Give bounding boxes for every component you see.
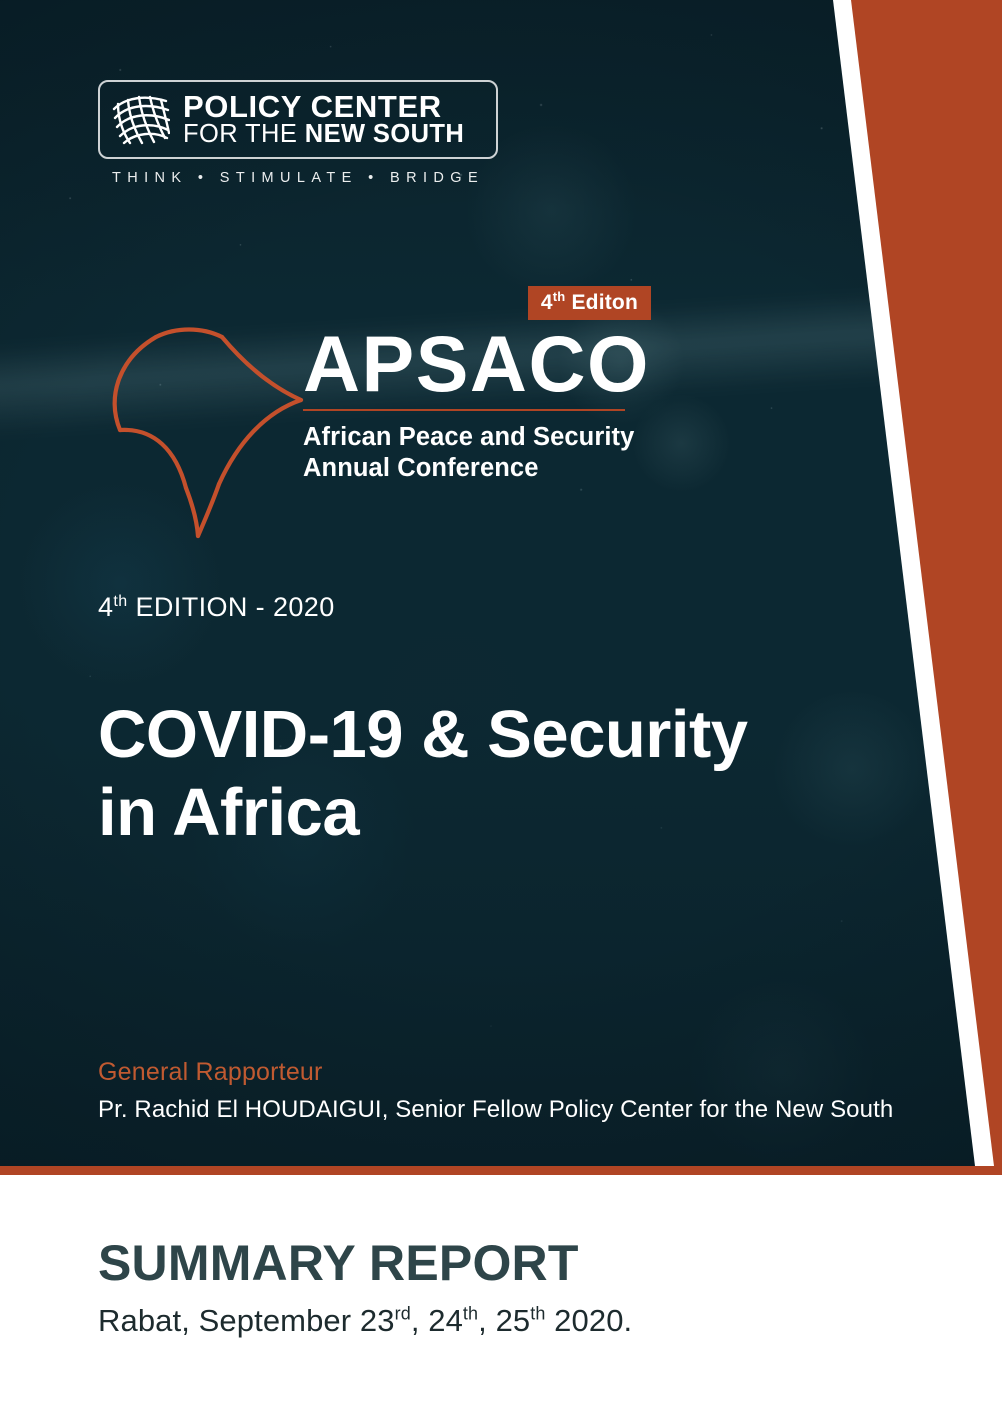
footer-dateline: Rabat, September 23rd, 24th, 25th 2020. — [98, 1303, 898, 1339]
footer-heading: SUMMARY REPORT — [98, 1238, 898, 1288]
edition-number: 4 — [98, 592, 113, 622]
page-title-line-2: in Africa — [98, 774, 818, 852]
apsaco-subtitle-line-1: African Peace and Security — [303, 423, 634, 451]
rapporteur-name: Pr. Rachid El HOUDAIGUI, Senior Fellow P… — [98, 1096, 878, 1124]
footer-city-date: Rabat, September 23 — [98, 1303, 395, 1338]
apsaco-subtitle-line-2: Annual Conference — [303, 454, 538, 482]
apsaco-subtitle: African Peace and Security Annual Confer… — [303, 422, 663, 483]
footer-ordinal-3: th — [530, 1304, 545, 1324]
edition-rest: EDITION - 2020 — [128, 592, 335, 622]
logo-outline-box: POLICY CENTER FOR THE NEW SOUTH — [98, 80, 498, 159]
logo-tagline: THINK • STIMULATE • BRIDGE — [98, 170, 498, 186]
edition-badge-number: 4 — [541, 291, 553, 314]
page-title-line-1: COVID-19 & Security — [98, 697, 748, 772]
apsaco-title: APSACO — [303, 326, 663, 401]
footer-block: SUMMARY REPORT Rabat, September 23rd, 24… — [98, 1238, 898, 1339]
footer-mid-2: , 25 — [478, 1303, 530, 1338]
policy-center-logo: POLICY CENTER FOR THE NEW SOUTH THINK • … — [98, 80, 498, 186]
orange-divider-bar — [0, 1166, 1002, 1175]
apsaco-branding-block: 4th Editon APSACO African Peace and Secu… — [98, 286, 658, 536]
edition-year-line: 4th EDITION - 2020 — [98, 592, 335, 623]
footer-ordinal-1: rd — [395, 1304, 411, 1324]
logo-line-1: POLICY CENTER — [183, 89, 442, 124]
document-cover: POLICY CENTER FOR THE NEW SOUTH THINK • … — [0, 0, 1002, 1416]
page-title: COVID-19 & Security in Africa — [98, 696, 818, 853]
footer-mid-1: , 24 — [411, 1303, 463, 1338]
africa-outline-icon — [98, 324, 308, 539]
edition-badge-word: Editon — [565, 291, 638, 314]
rapporteur-label: General Rapporteur — [98, 1058, 878, 1087]
edition-badge-ordinal: th — [553, 289, 566, 304]
logo-line-2-thin: FOR THE — [183, 120, 305, 148]
edition-badge: 4th Editon — [528, 286, 651, 320]
footer-tail: 2020. — [545, 1303, 632, 1338]
woven-globe-grid-icon — [112, 93, 170, 145]
edition-ordinal: th — [113, 593, 127, 610]
logo-line-2: FOR THE NEW SOUTH — [183, 120, 464, 148]
apsaco-underline-rule — [303, 409, 625, 411]
apsaco-text-group: 4th Editon APSACO African Peace and Secu… — [303, 286, 663, 483]
logo-wordmark: POLICY CENTER FOR THE NEW SOUTH — [183, 91, 482, 148]
footer-ordinal-2: th — [463, 1304, 478, 1324]
logo-line-2-bold: NEW SOUTH — [305, 120, 464, 148]
rapporteur-block: General Rapporteur Pr. Rachid El HOUDAIG… — [98, 1058, 878, 1124]
